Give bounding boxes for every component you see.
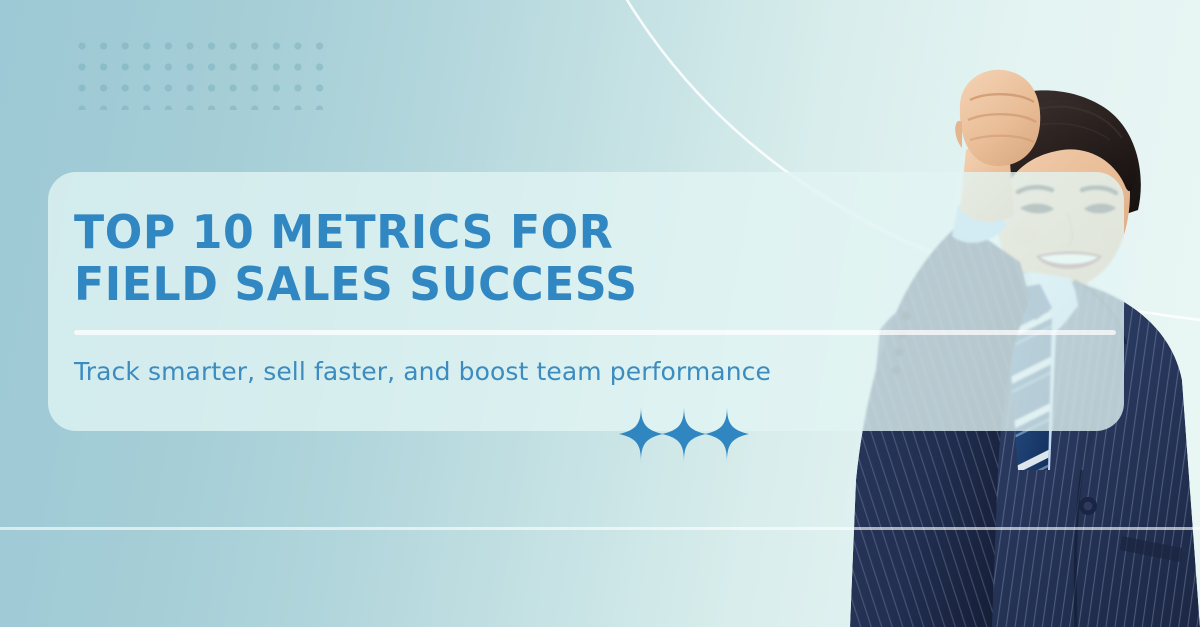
title-divider <box>74 330 1116 335</box>
dot-grid-pattern-icon <box>78 42 324 110</box>
card-content: TOP 10 METRICS FOR FIELD SALES SUCCESS T… <box>74 206 814 388</box>
promo-banner: TOP 10 METRICS FOR FIELD SALES SUCCESS T… <box>0 0 1200 627</box>
horizontal-rule <box>0 527 1200 530</box>
page-subtitle: Track smarter, sell faster, and boost te… <box>74 356 814 388</box>
headline-card: TOP 10 METRICS FOR FIELD SALES SUCCESS T… <box>48 172 1124 431</box>
page-title: TOP 10 METRICS FOR FIELD SALES SUCCESS <box>74 206 784 310</box>
